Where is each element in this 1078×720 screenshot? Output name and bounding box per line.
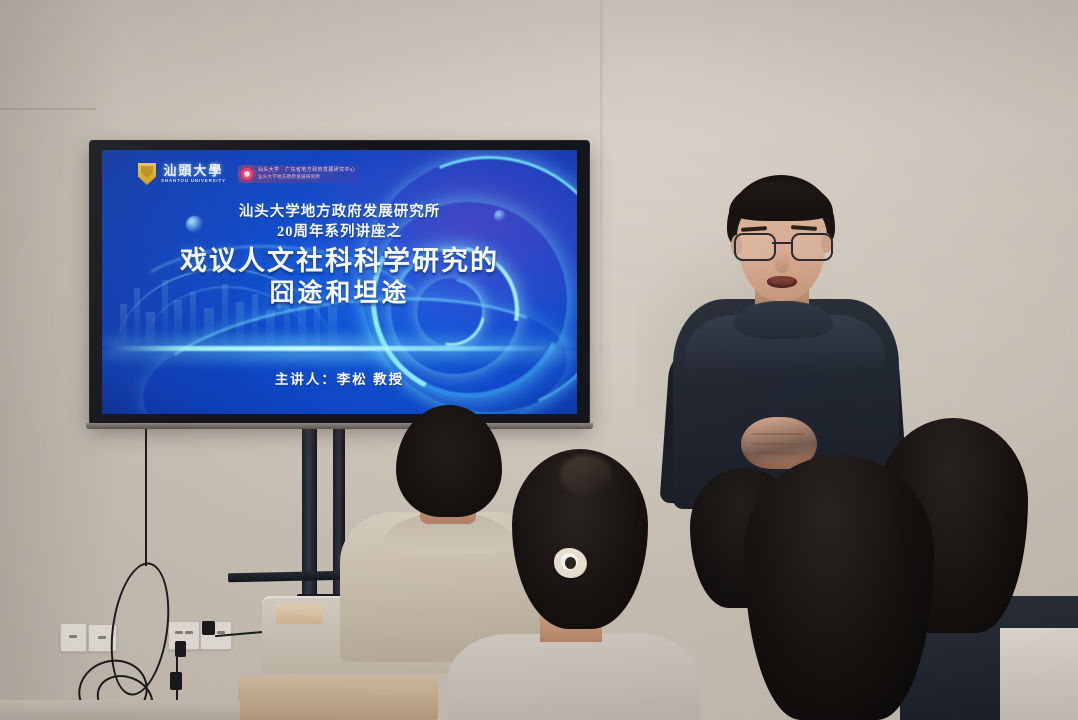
speaker-mouth — [767, 276, 797, 288]
slide-logo-row: 汕頭大學 SHANTOU UNIVERSITY 汕头大学 · 广东省地方政府发展… — [138, 163, 360, 185]
flower-emblem-icon — [240, 167, 254, 181]
audience-member-3-head — [744, 455, 934, 720]
shantou-university-logo: 汕頭大學 SHANTOU UNIVERSITY — [138, 163, 226, 185]
university-name-en: SHANTOU UNIVERSITY — [161, 179, 226, 184]
desk-surface-front — [238, 676, 438, 720]
power-plug — [202, 621, 215, 635]
university-name-cn: 汕頭大學 — [163, 164, 223, 177]
slide-heading-line-1: 汕头大学地方政府发展研究所 — [102, 202, 577, 222]
wall-seam — [0, 108, 96, 110]
eyeglass-lens-right — [791, 233, 833, 261]
slide-presenter-line: 主讲人：李松 教授 — [102, 368, 577, 388]
desk-surface-right — [1000, 628, 1078, 720]
eyeglass-bridge — [772, 242, 791, 244]
eyeglass-lens-left — [734, 233, 776, 261]
wall-shadow-top — [0, 0, 1078, 130]
desk-surface-left — [276, 604, 322, 624]
speaker-collar — [733, 301, 833, 339]
slide-title-line-1: 戏议人文社科科学研究的 — [102, 244, 577, 278]
presentation-display[interactable]: 汕頭大學 SHANTOU UNIVERSITY 汕头大学 · 广东省地方政府发展… — [90, 141, 589, 424]
speaker-nose — [775, 253, 789, 273]
cable-drop — [145, 426, 147, 566]
display-screen: 汕頭大學 SHANTOU UNIVERSITY 汕头大学 · 广东省地方政府发展… — [102, 150, 577, 414]
partner-logo-line-2: 汕头大学地方政府发展研究所 — [258, 175, 355, 180]
wall-corner-seam — [600, 0, 603, 470]
audience-member-2-body — [448, 634, 700, 720]
slide-title-line-2: 囧途和坦途 — [102, 278, 577, 310]
speaker — [655, 175, 915, 505]
display-bottom-edge — [86, 423, 593, 429]
slide-text-block: 汕头大学地方政府发展研究所 20周年系列讲座之 戏议人文社科科学研究的 囧途和坦… — [102, 202, 577, 310]
audience-member-2-hair-part — [560, 455, 612, 495]
desk-surface-front-left — [0, 700, 240, 720]
partner-logo-line-1: 汕头大学 · 广东省地方政府发展研究中心 — [258, 168, 355, 173]
wall-outlet — [60, 623, 87, 652]
presentation-slide: 汕頭大學 SHANTOU UNIVERSITY 汕头大学 · 广东省地方政府发展… — [102, 150, 577, 414]
photo-scene: 汕頭大學 SHANTOU UNIVERSITY 汕头大学 · 广东省地方政府发展… — [0, 0, 1078, 720]
hair-clip-accessory — [554, 548, 587, 578]
shield-emblem-icon — [138, 163, 156, 185]
partner-institute-logo: 汕头大学 · 广东省地方政府发展研究中心 汕头大学地方政府发展研究所 — [238, 165, 360, 183]
slide-heading-line-2: 20周年系列讲座之 — [102, 222, 577, 242]
